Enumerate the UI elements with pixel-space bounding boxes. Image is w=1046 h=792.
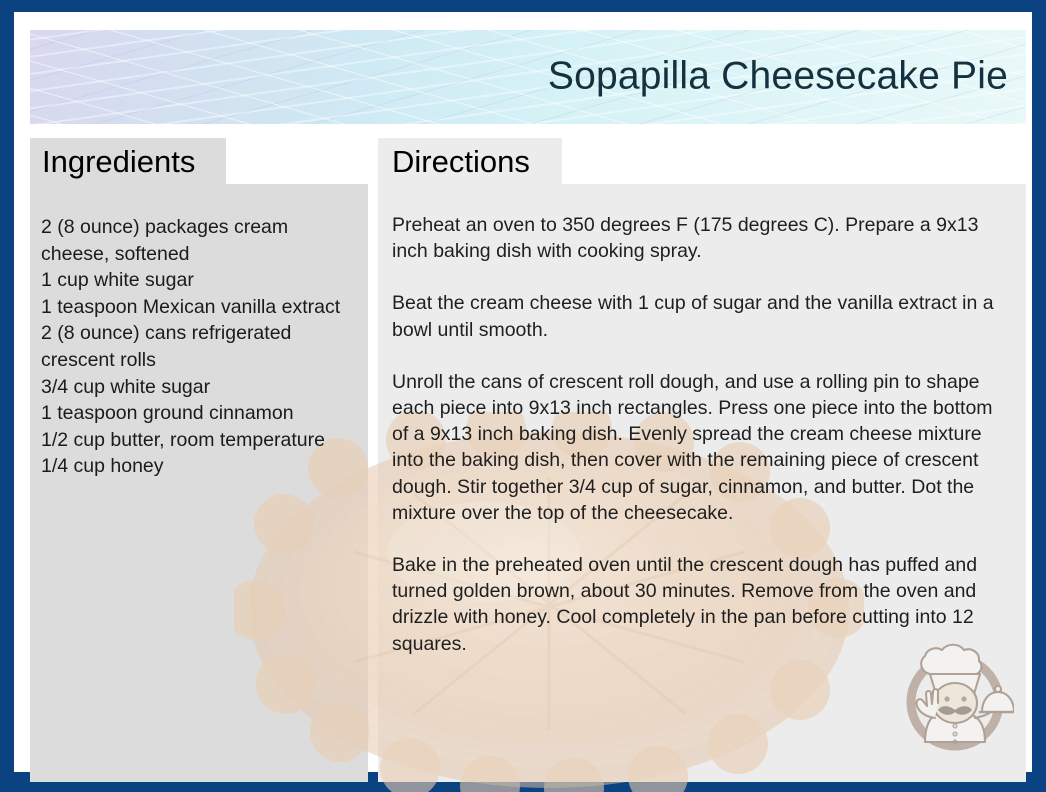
list-item: 1 cup white sugar [41,267,358,294]
list-item: 1 teaspoon Mexican vanilla extract [41,294,358,321]
list-item: 2 (8 ounce) packages cream cheese, softe… [41,214,358,267]
header-banner: Sopapilla Cheesecake Pie [30,30,1026,124]
ingredients-heading: Ingredients [42,146,195,177]
direction-paragraph: Beat the cream cheese with 1 cup of suga… [392,290,1012,342]
direction-paragraph: Preheat an oven to 350 degrees F (175 de… [392,212,1012,264]
directions-heading-band: Directions [378,138,1026,184]
content-panels: Ingredients 2 (8 ounce) packages cream c… [30,138,1026,782]
recipe-slide: Sopapilla Cheesecake Pie [0,0,1046,792]
directions-heading: Directions [392,146,530,177]
directions-panel: Directions Preheat an oven to 350 degree… [378,138,1026,782]
page-title: Sopapilla Cheesecake Pie [548,56,1008,99]
list-item: 1/4 cup honey [41,453,358,480]
directions-body: Preheat an oven to 350 degrees F (175 de… [378,184,1026,657]
list-item: 1 teaspoon ground cinnamon [41,400,358,427]
list-item: 2 (8 ounce) cans refrigerated crescent r… [41,320,358,373]
direction-paragraph: Bake in the preheated oven until the cre… [392,552,1012,657]
ingredients-heading-band: Ingredients [30,138,368,184]
ingredients-list: 2 (8 ounce) packages cream cheese, softe… [30,184,368,480]
direction-paragraph: Unroll the cans of crescent roll dough, … [392,369,1012,526]
list-item: 3/4 cup white sugar [41,374,358,401]
list-item: 1/2 cup butter, room temperature [41,427,358,454]
recipe-page: Sopapilla Cheesecake Pie [14,12,1032,772]
ingredients-panel: Ingredients 2 (8 ounce) packages cream c… [30,138,368,782]
